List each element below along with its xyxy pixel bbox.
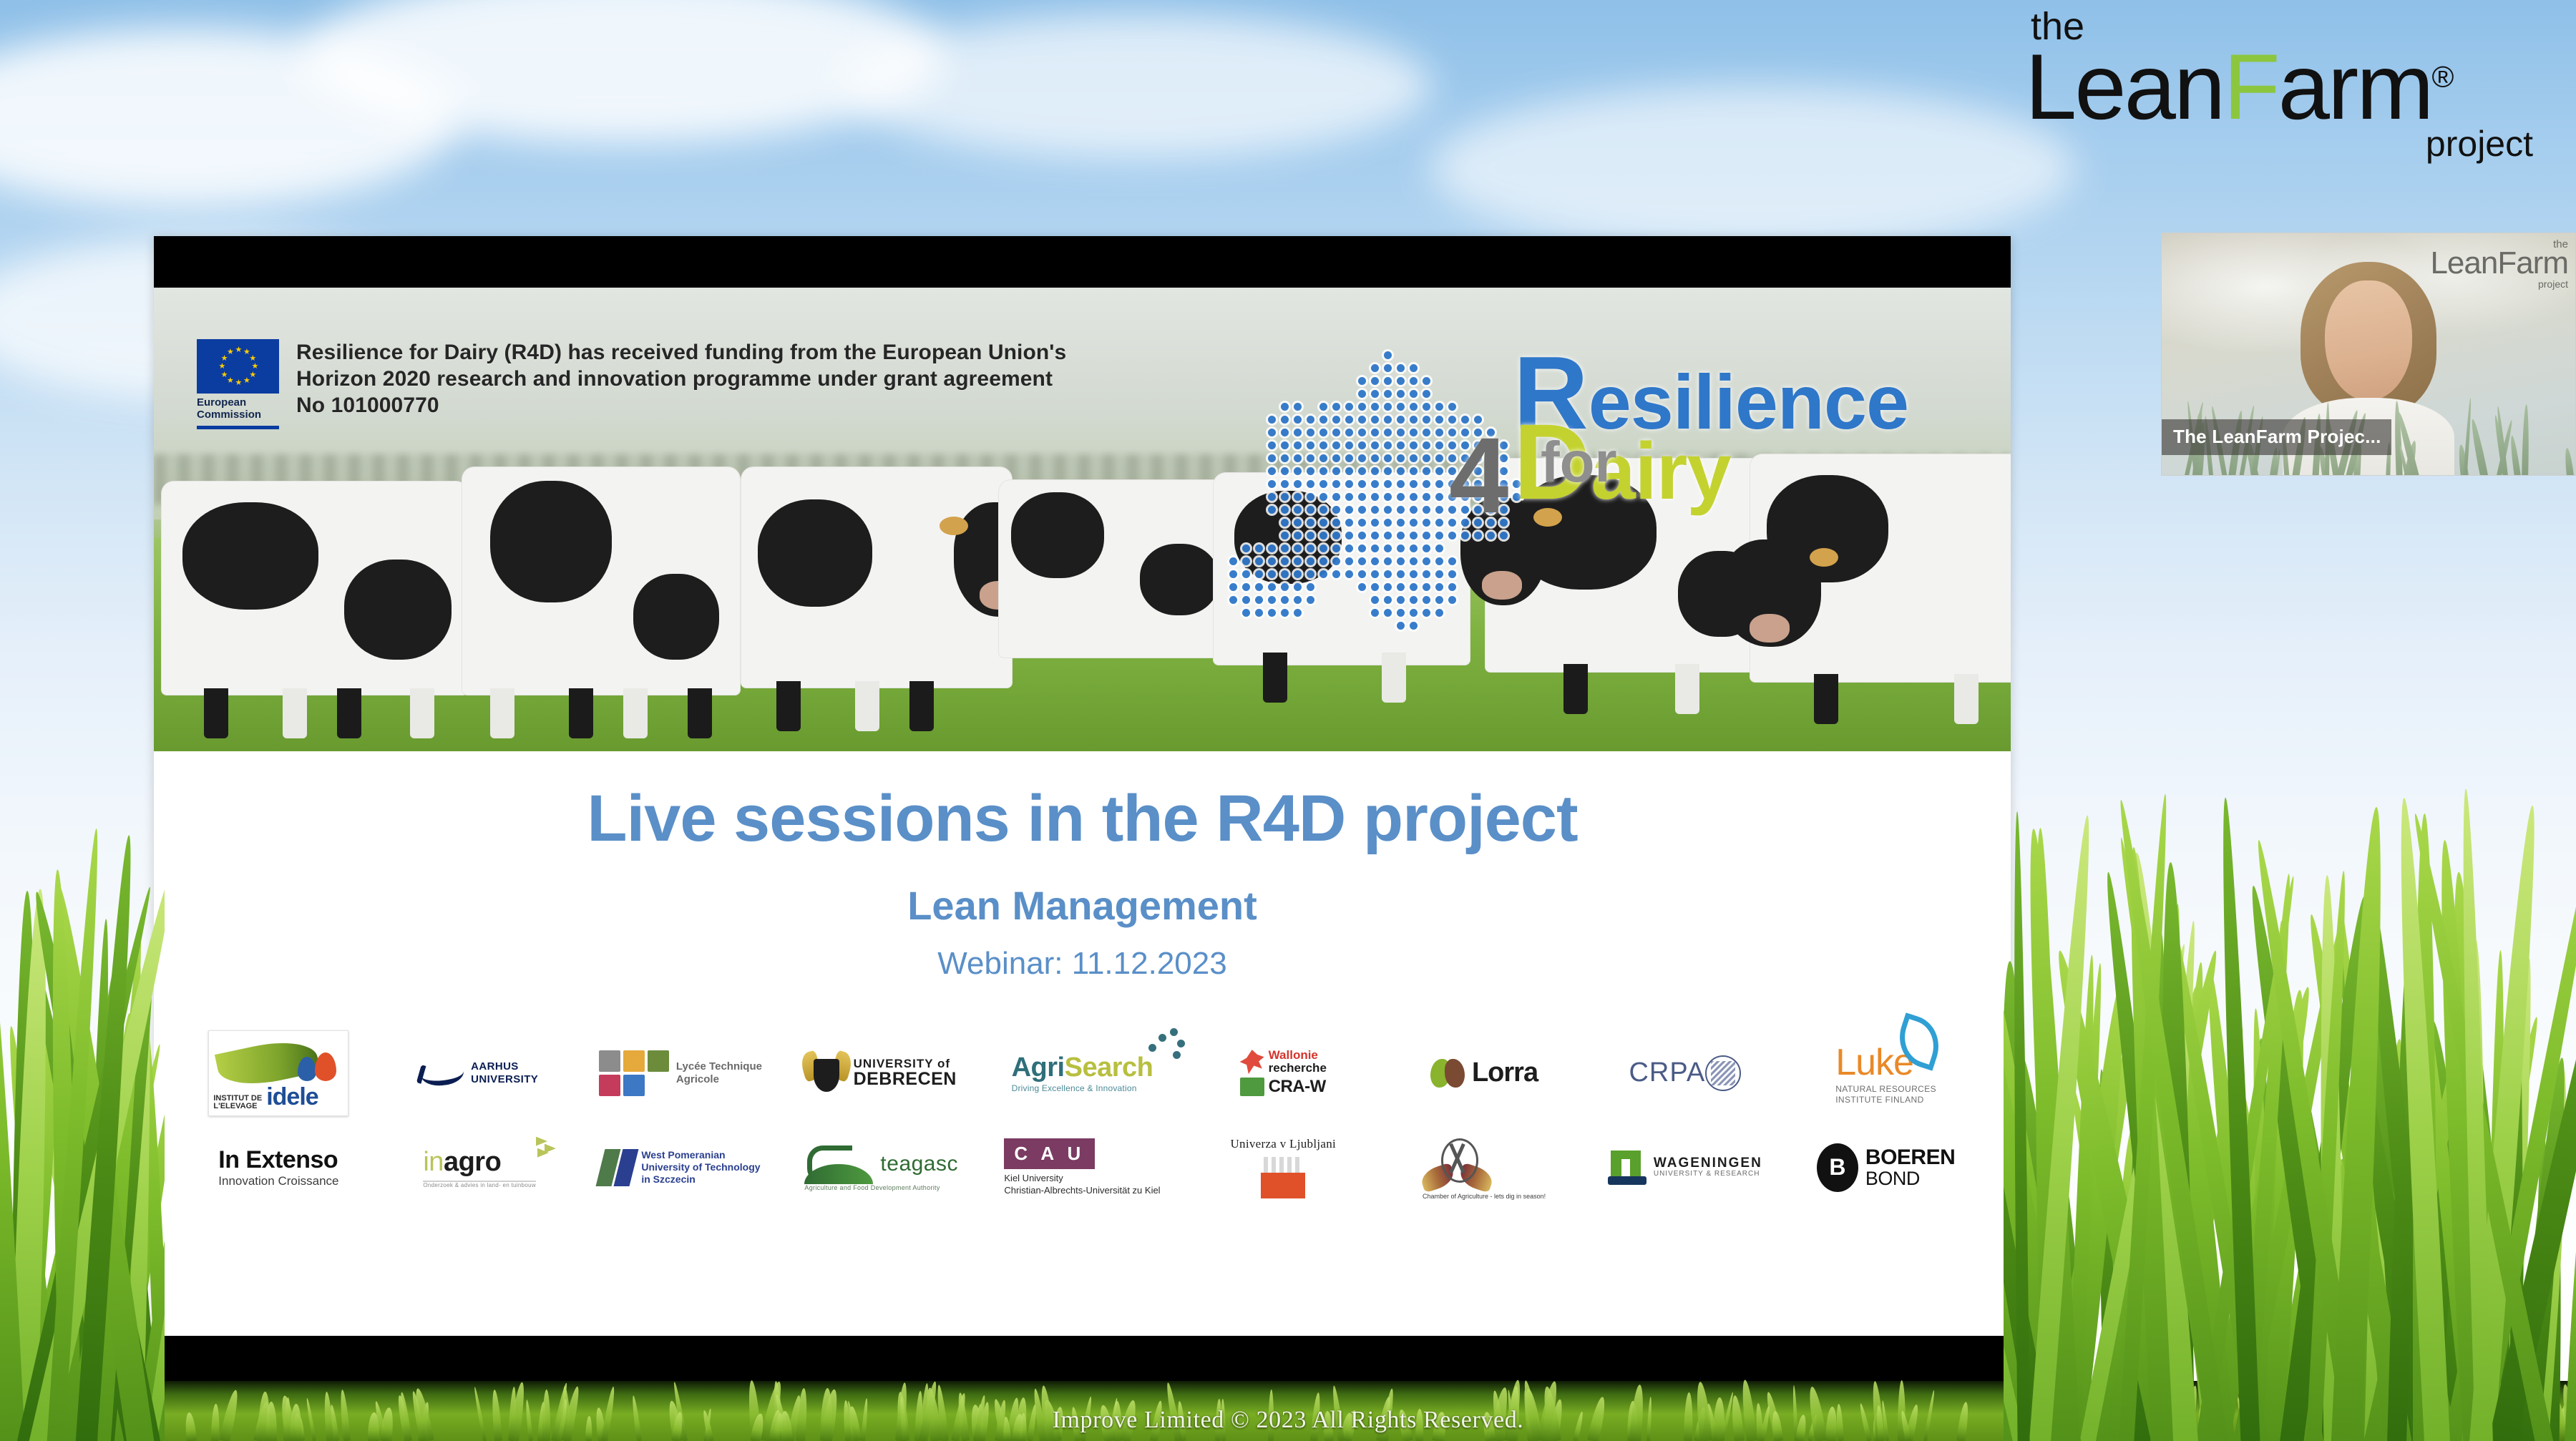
agrisearch-word-a: Agri [1012,1052,1065,1083]
eu-flag-block: ★★★★★★★★★★★★ European Commission [197,339,279,429]
eu-funding-text: Resilience for Dairy (R4D) has received … [296,339,1083,419]
leanfarm-logo: the LeanFarm® project [2025,7,2569,157]
ljubljana-building-icon [1261,1157,1305,1198]
eu-flag-caption: European Commission [197,396,279,421]
partner-logo-row: In Extenso Innovation Croissance inagro … [178,1120,1986,1215]
agrisearch-word-b: Search [1065,1052,1153,1083]
lithuania-chamber-icon [1423,1135,1491,1191]
partner-logo-kiel-university: C A U Kiel University Christian-Albrecht… [982,1122,1183,1213]
craw-name: CRA-W [1269,1077,1326,1097]
debrecen-crest-icon [806,1047,847,1099]
crpa-circle-icon [1705,1055,1741,1091]
aarhus-line2: UNIVERSITY [471,1073,538,1085]
webinar-date: Webinar: 11.12.2023 [154,946,2011,982]
aarhus-line1: AARHUS [471,1060,538,1073]
slide-hero-banner: ★★★★★★★★★★★★ European Commission Resilie… [154,288,2011,751]
eu-funding-statement: ★★★★★★★★★★★★ European Commission Resilie… [197,339,1083,429]
r4d-wordmark: Resilience 4 for Dairy [1513,341,2011,572]
wput-line2: University of Technology [641,1161,760,1173]
eu-flag-icon: ★★★★★★★★★★★★ [197,339,279,394]
partner-logo-university-of-debrecen: UNIVERSITY of DEBRECEN [781,1027,982,1119]
craw-green-icon [1240,1078,1264,1096]
teagasc-mark-icon [804,1144,873,1184]
kiel-line1: Kiel University [1004,1173,1160,1184]
slide-subtitle: Lean Management [154,882,2011,929]
partner-logo-crpa: CRPA [1584,1027,1785,1119]
cow-image [161,481,469,695]
idele-word: idele [266,1083,318,1111]
boerenbond-line1: BOEREN [1865,1146,1955,1169]
partner-logo-west-pomeranian-university: West Pomeranian University of Technology… [580,1122,781,1213]
agrisearch-tagline: Driving Excellence & Innovation [1012,1083,1153,1093]
lithuania-chamber-tagline: Chamber of Agriculture - lets dig in sea… [1423,1193,1546,1200]
partner-logo-boerenbond: B BOEREN BOND [1785,1122,1986,1213]
partner-logo-lycee-technique-agricole: Lycée Technique Agricole [580,1027,781,1119]
cow-image [741,467,1013,688]
wput-line3: in Szczecin [641,1173,760,1186]
cow-image [462,467,741,695]
in-extenso-tagline: Innovation Croissance [218,1174,338,1188]
copyright-text: Improve Limited © 2023 All Rights Reserv… [0,1407,2576,1434]
logo-farm-f: F [2223,34,2278,139]
lorra-mark-icon [1430,1057,1465,1089]
agrisearch-dots-icon [1148,1028,1186,1060]
partner-logo-teagasc: teagasc Agriculture and Food Development… [781,1122,982,1213]
debrecen-line2: DEBRECEN [854,1070,957,1088]
cau-box: C A U [1004,1138,1095,1169]
wput-line1: West Pomeranian [641,1149,760,1161]
inagro-word-a: in [423,1147,444,1177]
inagro-word-b: agro [444,1147,501,1177]
debrecen-line1: UNIVERSITY of [854,1057,957,1070]
page-title: Live sessions in the R4D project [154,784,2011,854]
ljubljana-word: Univerza v Ljubljani [1230,1137,1336,1151]
logo-wordmark: LeanFarm® [2025,40,2569,133]
kiel-line2: Christian-Albrechts-Universität zu Kiel [1004,1185,1160,1196]
partner-logo-lorra: Lorra [1384,1027,1585,1119]
grass-decoration-left [0,740,165,1441]
partner-logo-chamber-of-agriculture-lithuania: Chamber of Agriculture - lets dig in sea… [1384,1122,1585,1213]
logo-farm-rest: arm [2278,34,2432,139]
r4d-logo: Resilience 4 for Dairy [1188,341,2011,685]
wageningen-line1: WAGENINGEN [1654,1156,1762,1171]
craw-recherche: recherche [1269,1062,1327,1075]
inagro-tagline: Onderzoek & advies in land- en tuinbouw [423,1182,536,1188]
boerenbond-line2: BOND [1865,1168,1955,1188]
grass-decoration-right [2004,740,2576,1441]
registered-trademark-icon: ® [2432,60,2454,94]
partner-logo-wageningen: WAGENINGEN UNIVERSITY & RESEARCH [1584,1122,1785,1213]
wallonia-rooster-icon [1240,1050,1264,1074]
partner-logo-row: INSTITUT DE L'ELEVAGE idele AARHUS UNIVE… [178,1026,1986,1120]
partner-logo-univerza-v-ljubljani: Univerza v Ljubljani [1183,1122,1384,1213]
wageningen-mark-icon [1608,1151,1646,1185]
partner-logo-agrisearch: AgriSearch Driving Excellence & Innovati… [982,1027,1183,1119]
r4d-four: 4 [1449,414,1508,537]
boerenbond-mark-icon: B [1817,1143,1858,1192]
partner-logo-aarhus-university: AARHUS UNIVERSITY [379,1027,580,1119]
craw-wallonie: Wallonie [1269,1048,1318,1062]
lorra-word: Lorra [1472,1057,1538,1088]
in-extenso-name: In Extenso [218,1146,338,1174]
teagasc-tagline: Agriculture and Food Development Authori… [804,1184,958,1191]
shared-slide[interactable]: ★★★★★★★★★★★★ European Commission Resilie… [154,236,2011,1399]
wageningen-line2: UNIVERSITY & RESEARCH [1654,1171,1762,1178]
aarhus-mark-icon [419,1058,464,1088]
logo-lean-text: Lean [2025,34,2223,139]
partner-logo-cra-w: Wallonie recherche CRA-W [1183,1027,1384,1119]
idele-line2: L'ELEVAGE [213,1103,262,1111]
partner-logo-inagro: inagro Onderzoek & advies in land- en tu… [379,1122,580,1213]
webinar-screen: the LeanFarm® project the LeanFarm proje… [0,0,2576,1441]
partner-logos: INSTITUT DE L'ELEVAGE idele AARHUS UNIVE… [178,1026,1986,1215]
presenter-face [2325,280,2412,401]
r4d-for: for [1541,429,1617,495]
partner-logo-idele: INSTITUT DE L'ELEVAGE idele [178,1027,379,1119]
slide-titles: Live sessions in the R4D project Lean Ma… [154,751,2011,989]
wput-mark-icon [600,1149,634,1186]
cloud-decoration [844,14,1431,157]
luke-sub2: INSTITUTE FINLAND [1835,1095,1936,1105]
eu-flag-rule [197,426,279,429]
r4d-fourfor-line: 4 for Dairy [1513,408,2011,572]
cloud-decoration [1431,86,2075,250]
lycee-squares-icon [599,1050,669,1096]
crpa-word: CRPA [1629,1057,1705,1088]
inagro-leaves-icon [536,1137,560,1158]
video-participant-label: The LeanFarm Projec... [2162,419,2391,455]
slide-letterbox-top [154,236,2011,288]
lycee-line2: Agricole [676,1073,762,1085]
partner-logo-in-extenso: In Extenso Innovation Croissance [178,1122,379,1213]
participant-video-tile[interactable]: the LeanFarm project The LeanFarm Projec… [2161,233,2576,476]
teagasc-word: teagasc [880,1152,958,1176]
partner-logo-luke: Luke NATURAL RESOURCES INSTITUTE FINLAND [1785,1027,1986,1119]
lycee-line1: Lycée Technique [676,1060,762,1073]
luke-sub1: NATURAL RESOURCES [1835,1084,1936,1094]
